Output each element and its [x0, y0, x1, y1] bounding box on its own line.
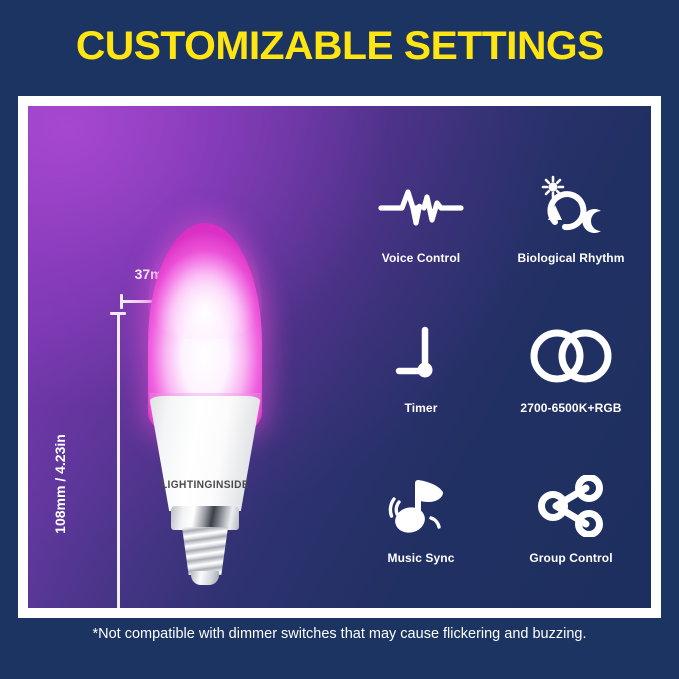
feature-biological-rhythm[interactable]: Biological Rhythm	[496, 144, 646, 294]
height-dimension-label: 108mm / 4.23in	[52, 424, 68, 544]
footnote-text: *Not compatible with dimmer switches tha…	[0, 626, 679, 642]
feature-group-control[interactable]: Group Control	[496, 444, 646, 594]
product-infographic: CUSTOMIZABLE SETTINGS 37mm / 1.45in 108m…	[0, 0, 679, 679]
gradient-panel: 37mm / 1.45in 108mm / 4.23in LIGHTINGINS…	[28, 106, 651, 608]
led-bulb-image: LIGHTINGINSIDE	[120, 201, 290, 601]
feature-color-temperature[interactable]: 2700-6500K+RGB	[496, 294, 646, 444]
features-grid: Voice Control	[346, 144, 646, 594]
bulb-screw-base	[181, 527, 229, 575]
feature-label: Biological Rhythm	[517, 251, 624, 265]
bulb-brand-label: LIGHTINGINSIDE	[126, 479, 284, 491]
bulb-collar	[171, 506, 239, 530]
feature-label: Music Sync	[387, 551, 454, 565]
feature-label: 2700-6500K+RGB	[520, 401, 621, 415]
feature-label: Timer	[405, 401, 438, 415]
share-nodes-icon	[536, 473, 606, 539]
clock-hands-icon	[389, 323, 453, 389]
panel-frame: 37mm / 1.45in 108mm / 4.23in LIGHTINGINS…	[18, 96, 661, 618]
feature-timer[interactable]: Timer	[346, 294, 496, 444]
bulb-body	[149, 396, 261, 511]
page-title: CUSTOMIZABLE SETTINGS	[75, 24, 603, 69]
feature-label: Group Control	[529, 551, 612, 565]
feature-label: Voice Control	[382, 251, 460, 265]
music-note-icon	[386, 473, 456, 539]
feature-voice-control[interactable]: Voice Control	[346, 144, 496, 294]
sun-moon-cycle-icon	[535, 173, 607, 239]
waveform-icon	[378, 173, 464, 239]
bulb-contact-tip	[191, 571, 219, 585]
feature-music-sync[interactable]: Music Sync	[346, 444, 496, 594]
overlapping-circles-icon	[525, 323, 617, 389]
title-bar: CUSTOMIZABLE SETTINGS	[0, 0, 679, 92]
